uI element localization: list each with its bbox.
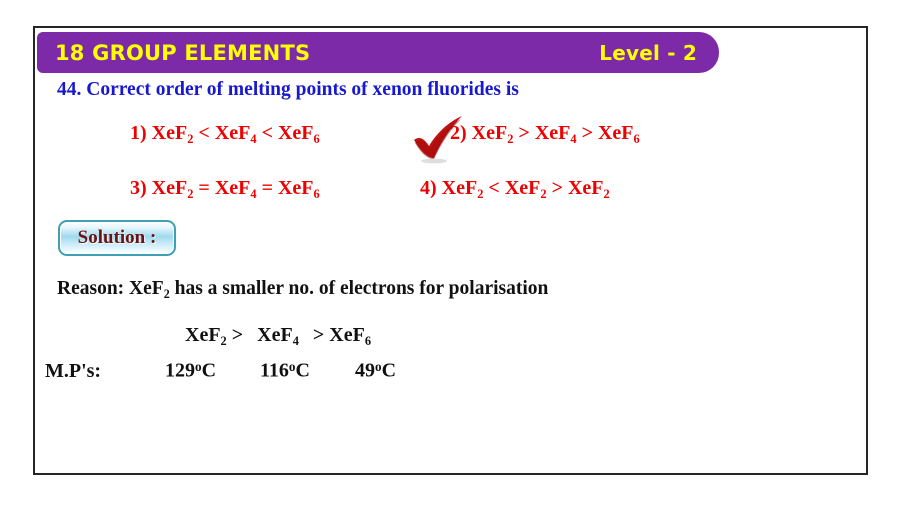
reason-text: Reason: XeF2 has a smaller no. of electr…	[57, 278, 548, 302]
option-3-prefix: 3)	[130, 177, 147, 199]
slide-frame: 18 GROUP ELEMENTS Level - 2 44. Correct …	[33, 26, 868, 475]
solution-button[interactable]: Solution :	[58, 220, 176, 256]
option-4[interactable]: 4) XeF2 < XeF2 > XeF2	[420, 177, 610, 202]
header-bar: 18 GROUP ELEMENTS Level - 2	[37, 32, 719, 73]
order-line: XeF2 >XeF4> XeF6	[185, 324, 371, 349]
option-3[interactable]: 3) XeF2 = XeF4 = XeF6	[130, 177, 320, 202]
level-badge: Level - 2	[599, 41, 697, 65]
option-2[interactable]: 2) XeF2 > XeF4 > XeF6	[450, 122, 640, 147]
option-1-prefix: 1)	[130, 122, 147, 144]
solution-button-label: Solution :	[78, 227, 157, 249]
option-2-prefix: 2)	[450, 122, 467, 144]
option-4-prefix: 4)	[420, 177, 437, 199]
melting-point-value-1: 129oC	[165, 359, 260, 383]
option-1[interactable]: 1) XeF2 < XeF4 < XeF6	[130, 122, 320, 147]
melting-points-label: M.P's:	[45, 360, 165, 383]
page-title: 18 GROUP ELEMENTS	[55, 41, 310, 65]
melting-points-row: M.P's:129oC116oC49oC	[45, 359, 450, 383]
melting-point-value-3: 49oC	[355, 359, 450, 383]
question-text: 44. Correct order of melting points of x…	[57, 79, 519, 101]
melting-point-value-2: 116oC	[260, 359, 355, 383]
